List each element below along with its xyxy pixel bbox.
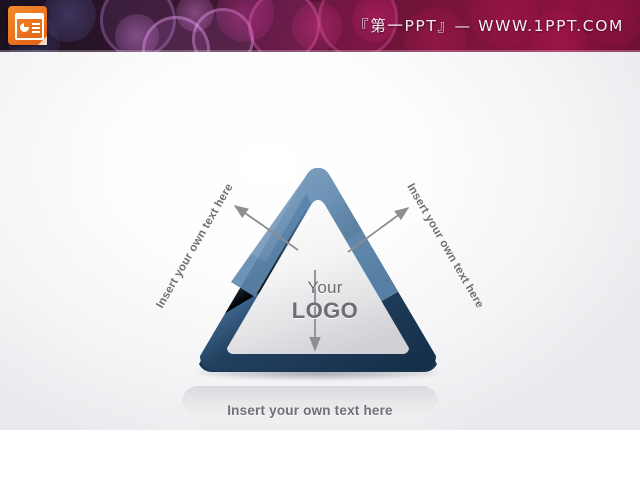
logo-line-logo: LOGO [270, 298, 380, 324]
powerpoint-icon-pie [20, 23, 29, 32]
slide-canvas: 『第一PPT』— WWW.1PPT.COM [0, 0, 640, 480]
bokeh-circle [248, 0, 320, 52]
bokeh-circle [176, 0, 214, 32]
bottom-banner-text: Insert your own text here [182, 403, 438, 418]
slide-body: Your LOGO Insert your own text here Inse… [0, 52, 640, 430]
bokeh-circle [142, 16, 210, 52]
center-logo-label: Your LOGO [270, 277, 380, 324]
powerpoint-icon-line [32, 27, 40, 29]
header-bar: 『第一PPT』— WWW.1PPT.COM [0, 0, 640, 52]
header-title: 『第一PPT』— WWW.1PPT.COM [353, 0, 624, 52]
bokeh-circle [192, 8, 254, 52]
bokeh-circle [292, 2, 342, 52]
powerpoint-icon-titlebar [17, 15, 42, 19]
powerpoint-icon-fold [38, 36, 47, 45]
powerpoint-icon-line [32, 23, 40, 25]
footer-bar: 第一PPT HTTP://WWW.1PPT.COM [0, 430, 640, 480]
powerpoint-icon-line [32, 31, 40, 33]
powerpoint-icon [8, 6, 47, 45]
bokeh-circle [42, 0, 96, 42]
bokeh-circle [100, 0, 176, 52]
bokeh-circle [115, 14, 159, 52]
logo-line-your: Your [270, 277, 380, 298]
bokeh-circle [216, 0, 274, 42]
